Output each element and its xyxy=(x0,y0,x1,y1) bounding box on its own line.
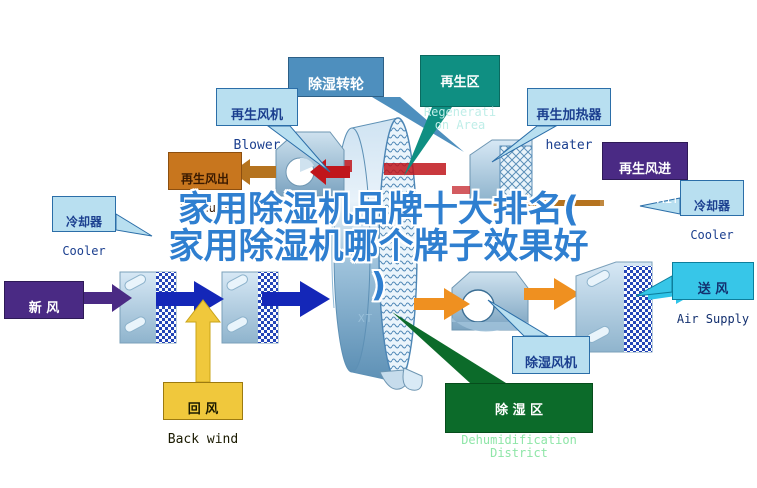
label-regeneration-blower: 再生风机 Blower xyxy=(216,88,298,126)
back-wind-arrow xyxy=(186,300,220,382)
diagram-canvas: 除湿转轮 Desiccant 再生风机 Blower 再生区 Regenerat… xyxy=(0,0,757,488)
label-back-wind-en: Back wind xyxy=(164,433,242,447)
label-air-supply-en: Air Supply xyxy=(673,313,753,326)
label-regeneration-heater: 再生加热器 heater xyxy=(527,88,611,126)
label-back-wind-cn: 回 风 xyxy=(164,403,242,417)
label-dehumid-district-en: Dehumidification District xyxy=(446,434,592,459)
label-cooler-left: 冷却器 Cooler xyxy=(52,196,116,232)
label-cooler-right: 冷却器 Cooler xyxy=(680,180,744,216)
label-regeneration-blower-cn: 再生风机 xyxy=(217,109,297,123)
label-regeneration-area-cn: 再生区 xyxy=(421,76,499,90)
label-desiccant-wheel: 除湿转轮 Desiccant xyxy=(288,57,384,97)
label-fresh-air: 新 风 Fresh Air xyxy=(4,281,84,319)
label-dehumid-blower: 除湿风机 Blower xyxy=(512,336,590,374)
condensate-drain xyxy=(380,368,422,390)
label-regeneration-inlet-cn: 再生风进 xyxy=(603,163,687,177)
label-regeneration-heater-en: heater xyxy=(528,139,610,153)
label-exhaust-cn: 再生风出 xyxy=(169,173,241,186)
label-regeneration-area: 再生区 Regenerati on Area xyxy=(420,55,500,107)
cooler-coil-mid xyxy=(222,272,278,343)
label-cooler-left-cn: 冷却器 xyxy=(53,216,115,229)
label-cooler-right-cn: 冷却器 xyxy=(681,200,743,213)
label-exhaust-en: Exhaust xyxy=(169,202,241,215)
label-dehumid-blower-cn: 除湿风机 xyxy=(513,357,589,371)
regen-in-arrow xyxy=(512,194,600,212)
watermark-text: XT xyxy=(358,312,373,325)
label-air-supply: 送 风 Air Supply xyxy=(672,262,754,300)
label-dehumid-district-cn: 除 湿 区 xyxy=(446,404,592,418)
label-fresh-air-en: Fresh Air xyxy=(5,332,83,346)
label-regeneration-blower-en: Blower xyxy=(217,139,297,153)
cooler-coil-left xyxy=(120,272,176,343)
label-desiccant-wheel-en: Desiccant xyxy=(289,109,383,124)
desiccant-rotor xyxy=(332,118,417,382)
label-exhaust: 再生风出 Exhaust xyxy=(168,152,242,190)
label-regeneration-inlet: 再生风进 Fresh Air xyxy=(602,142,688,180)
label-cooler-left-en: Cooler xyxy=(53,245,115,258)
label-dehumid-district: 除 湿 区 Dehumidification District xyxy=(445,383,593,433)
label-regeneration-inlet-en: Fresh Air xyxy=(603,193,687,207)
label-fresh-air-cn: 新 风 xyxy=(5,302,83,316)
label-desiccant-wheel-cn: 除湿转轮 xyxy=(289,78,383,93)
label-air-supply-cn: 送 风 xyxy=(673,283,753,297)
dry-air-arrow-2 xyxy=(524,278,580,310)
label-cooler-right-en: Cooler xyxy=(681,229,743,242)
label-back-wind: 回 风 Back wind xyxy=(163,382,243,420)
label-regeneration-area-en: Regenerati on Area xyxy=(421,106,499,131)
label-regeneration-heater-cn: 再生加热器 xyxy=(528,109,610,123)
regen-outlet-strip xyxy=(452,186,470,194)
